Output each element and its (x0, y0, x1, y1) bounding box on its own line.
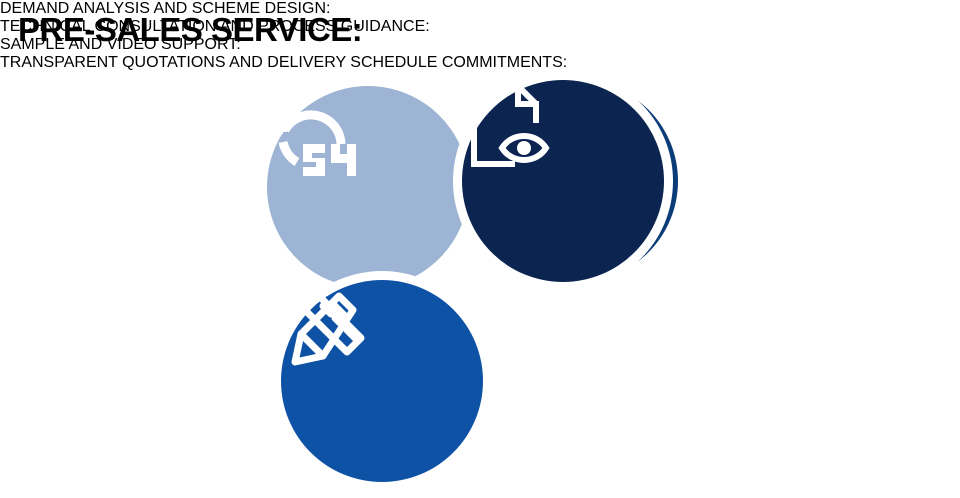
caption-quotation: TRANSPARENT QUOTATIONS AND DELIVERY SCHE… (0, 54, 960, 72)
service-circle-sample[interactable] (281, 280, 483, 482)
page-title: PRE-SALES SERVICE: (18, 12, 362, 48)
service-circles-cluster (262, 80, 668, 486)
infographic-canvas: PRE-SALES SERVICE: (0, 0, 960, 498)
pencil-ruler-icon (281, 363, 377, 380)
service-circle-demand[interactable] (267, 86, 469, 288)
service-circle-technical[interactable] (462, 80, 664, 282)
clock-24-arrow-icon (267, 165, 363, 182)
document-eye-icon (462, 163, 554, 180)
